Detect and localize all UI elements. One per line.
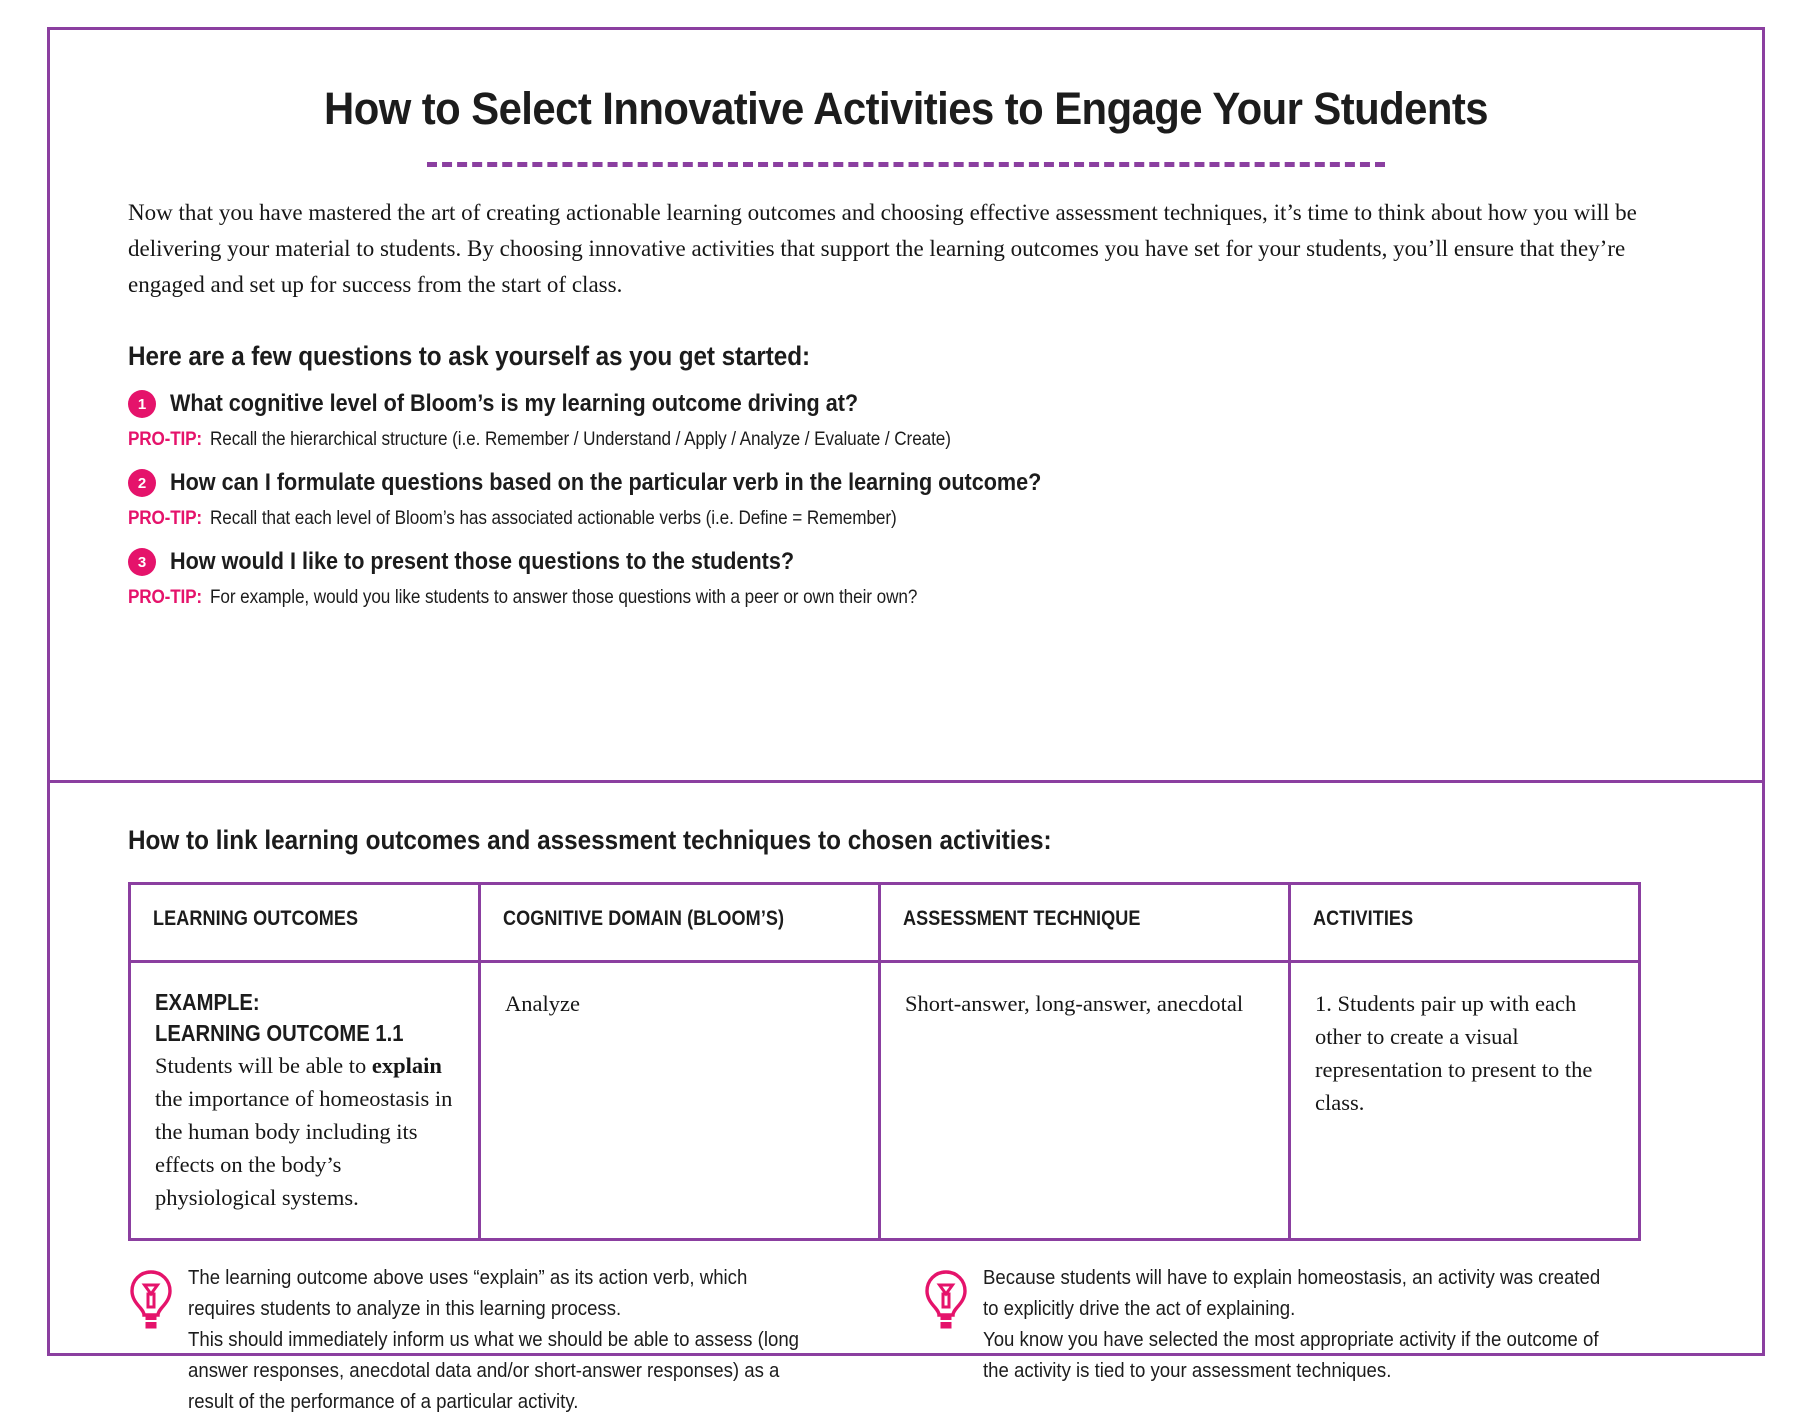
question-text: What cognitive level of Bloom’s is my le… <box>170 390 858 418</box>
intro-paragraph: Now that you have mastered the art of cr… <box>128 195 1637 303</box>
pro-tip-label: PRO-TIP: <box>128 586 202 609</box>
lo-body-post: the importance of homeostasis in the hum… <box>155 1086 452 1210</box>
cell-assessment-technique: Short-answer, long-answer, anecdotal <box>880 962 1290 1240</box>
question-text: How would I like to present those questi… <box>170 548 794 576</box>
question-number-badge: 2 <box>128 469 156 497</box>
pro-tip-text: For example, would you like students to … <box>210 586 917 609</box>
column-header-label: ASSESSMENT TECHNIQUE <box>903 907 1141 931</box>
callouts-container: The learning outcome above uses “explain… <box>128 1263 1658 1418</box>
pro-tip-row: PRO-TIP: Recall that each level of Bloom… <box>128 507 1762 530</box>
callout-left-line2: This should immediately inform us what w… <box>188 1325 816 1418</box>
callout-left-line1: The learning outcome above uses “explain… <box>188 1263 816 1325</box>
column-header-activities: ACTIVITIES <box>1290 884 1640 962</box>
cell-cognitive-domain: Analyze <box>480 962 880 1240</box>
cell-activities: 1. Students pair up with each other to c… <box>1290 962 1640 1240</box>
question-row: 1 What cognitive level of Bloom’s is my … <box>128 390 1762 418</box>
learning-outcome-body: Students will be able to explain the imp… <box>155 1049 454 1214</box>
question-row: 2 How can I formulate questions based on… <box>128 469 1762 497</box>
lightbulb-icon <box>923 1269 969 1331</box>
title-dashed-divider <box>427 162 1385 167</box>
callout-right-body: Because students will have to explain ho… <box>983 1263 1611 1387</box>
assessment-technique-value: Short-answer, long-answer, anecdotal <box>905 987 1264 1020</box>
learning-outcome-kicker-line2: LEARNING OUTCOME 1.1 <box>155 1018 418 1049</box>
callout-right-line1: Because students will have to explain ho… <box>983 1263 1611 1325</box>
lo-body-bold-verb: explain <box>372 1053 442 1078</box>
cognitive-domain-value: Analyze <box>505 987 854 1020</box>
question-number-badge: 3 <box>128 548 156 576</box>
pro-tip-label: PRO-TIP: <box>128 507 202 530</box>
callout-right-line2: You know you have selected the most appr… <box>983 1325 1611 1387</box>
pro-tip-text: Recall that each level of Bloom’s has as… <box>210 507 897 530</box>
questions-list: 1 What cognitive level of Bloom’s is my … <box>128 390 1762 609</box>
column-header-label: COGNITIVE DOMAIN (BLOOM’S) <box>503 907 784 931</box>
pro-tip-text: Recall the hierarchical structure (i.e. … <box>210 428 951 451</box>
activities-value: 1. Students pair up with each other to c… <box>1315 987 1614 1119</box>
linking-table: LEARNING OUTCOMES COGNITIVE DOMAIN (BLOO… <box>128 882 1641 1241</box>
question-text: How can I formulate questions based on t… <box>170 469 1041 497</box>
pro-tip-label: PRO-TIP: <box>128 428 202 451</box>
question-row: 3 How would I like to present those ques… <box>128 548 1762 576</box>
question-number-badge: 1 <box>128 390 156 418</box>
bottom-section: How to link learning outcomes and assess… <box>50 825 1762 1418</box>
cell-learning-outcome: EXAMPLE: LEARNING OUTCOME 1.1 Students w… <box>130 962 480 1240</box>
column-header-learning-outcomes: LEARNING OUTCOMES <box>130 884 480 962</box>
lightbulb-icon <box>128 1269 174 1331</box>
column-header-assessment-technique: ASSESSMENT TECHNIQUE <box>880 884 1290 962</box>
column-header-label: LEARNING OUTCOMES <box>153 907 358 931</box>
column-header-cognitive-domain: COGNITIVE DOMAIN (BLOOM’S) <box>480 884 880 962</box>
callout-right: Because students will have to explain ho… <box>923 1263 1658 1418</box>
callout-left-body: The learning outcome above uses “explain… <box>188 1263 816 1418</box>
callout-left: The learning outcome above uses “explain… <box>128 1263 863 1418</box>
learning-outcome-kicker-line1: EXAMPLE: <box>155 987 418 1018</box>
pro-tip-row: PRO-TIP: For example, would you like stu… <box>128 586 1762 609</box>
document-page: How to Select Innovative Activities to E… <box>47 27 1765 1356</box>
questions-section-heading: Here are a few questions to ask yourself… <box>128 341 1599 372</box>
top-section: How to Select Innovative Activities to E… <box>50 83 1762 783</box>
table-section-heading: How to link learning outcomes and assess… <box>128 825 1599 856</box>
lo-body-pre: Students will be able to <box>155 1053 372 1078</box>
page-title: How to Select Innovative Activities to E… <box>110 83 1702 135</box>
pro-tip-row: PRO-TIP: Recall the hierarchical structu… <box>128 428 1762 451</box>
table-row: EXAMPLE: LEARNING OUTCOME 1.1 Students w… <box>130 962 1640 1240</box>
column-header-label: ACTIVITIES <box>1313 907 1413 931</box>
table-header-row: LEARNING OUTCOMES COGNITIVE DOMAIN (BLOO… <box>130 884 1640 962</box>
